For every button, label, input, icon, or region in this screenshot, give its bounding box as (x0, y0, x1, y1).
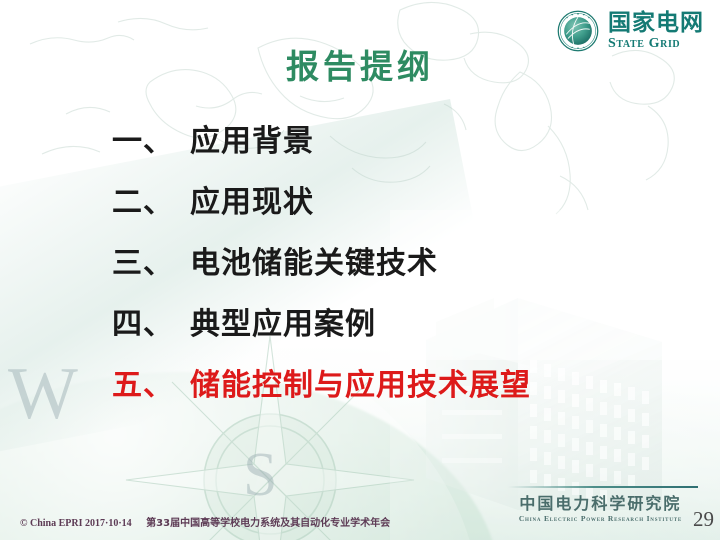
outline-item-3[interactable]: 三、 电池储能关键技术 (112, 238, 642, 282)
compass-letter-w: W (8, 352, 78, 437)
outline-item-1-label: 应用背景 (190, 116, 314, 160)
outline-item-5-number: 五、 (112, 360, 190, 404)
outline-item-5-label: 储能控制与应用技术展望 (190, 360, 531, 404)
outline-item-2[interactable]: 二、 应用现状 (112, 177, 642, 221)
outline-item-3-label: 电池储能关键技术 (190, 238, 438, 282)
slide-canvas: W S (0, 0, 720, 540)
outline-item-1-number: 一、 (112, 116, 190, 160)
outline-item-1[interactable]: 一、 应用背景 (112, 116, 642, 160)
outline-item-3-number: 三、 (112, 238, 190, 282)
page-number: 29 (693, 507, 714, 532)
compass-letter-s: S (243, 440, 277, 511)
institute-name-en: China Electric Power Research Institute (519, 515, 682, 523)
outline-item-2-number: 二、 (112, 177, 190, 221)
institute-name-cn: 中国电力科学研究院 (519, 496, 682, 512)
institute-branding: 中国电力科学研究院 China Electric Power Research … (519, 496, 682, 523)
outline-item-2-label: 应用现状 (190, 177, 314, 221)
footer-left: © China EPRI 2017·10·14 第33届中国高等学校电力系统及其… (20, 514, 390, 529)
conference-name: 第33届中国高等学校电力系统及其自动化专业学术年会 (146, 518, 390, 529)
outline-list: 一、 应用背景 二、 应用现状 三、 电池储能关键技术 四、 典型应用案例 五、… (112, 116, 642, 421)
outline-item-4[interactable]: 四、 典型应用案例 (112, 299, 642, 343)
outline-item-4-label: 典型应用案例 (190, 299, 376, 343)
outline-item-4-number: 四、 (112, 299, 190, 343)
copyright-text: © China EPRI 2017·10·14 (20, 518, 132, 529)
outline-item-5[interactable]: 五、 储能控制与应用技术展望 (112, 360, 642, 404)
institute-divider (508, 486, 698, 488)
page-title: 报告提纲 (0, 40, 720, 88)
logo-name-cn: 国家电网 (608, 12, 704, 35)
